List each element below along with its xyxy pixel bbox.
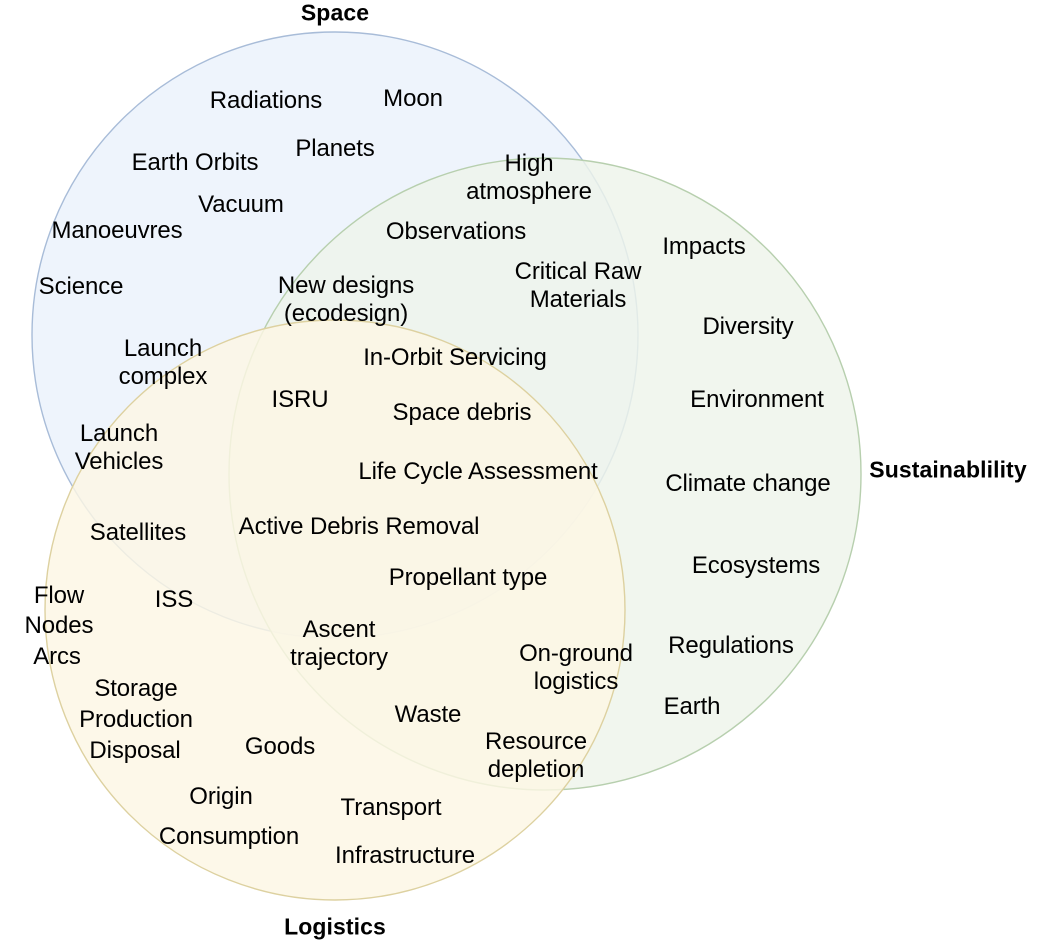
venn-term: LaunchVehicles <box>75 420 164 476</box>
venn-term: Resourcedepletion <box>485 728 587 784</box>
venn-term: Diversity <box>702 313 793 341</box>
venn-term: Life Cycle Assessment <box>358 458 597 486</box>
venn-term: In-Orbit Servicing <box>363 344 547 372</box>
venn-term: Regulations <box>668 632 794 660</box>
venn-term: Impacts <box>662 233 745 261</box>
venn-set-label-space: Space <box>301 0 369 27</box>
venn-term: Science <box>39 273 124 301</box>
venn-term: ISS <box>155 586 193 614</box>
venn-term: Origin <box>189 783 252 811</box>
venn-term: Ecosystems <box>692 552 820 580</box>
venn-term: Highatmosphere <box>466 150 592 206</box>
venn-term: New designs(ecodesign) <box>278 272 414 328</box>
venn-term: Critical RawMaterials <box>515 258 642 314</box>
venn-term: ISRU <box>272 386 329 414</box>
venn-term: Moon <box>383 85 443 113</box>
venn-term: Waste <box>395 701 462 729</box>
venn-term: Planets <box>295 135 374 163</box>
venn-term: On-groundlogistics <box>519 640 633 696</box>
venn-term: Launchcomplex <box>119 335 208 391</box>
venn-term: Infrastructure <box>335 842 475 870</box>
venn-term: Nodes <box>25 612 94 640</box>
venn-term: Arcs <box>33 643 81 671</box>
venn-term: Space debris <box>393 399 532 427</box>
venn-term: Earth Orbits <box>132 149 259 177</box>
venn-term: Climate change <box>665 470 830 498</box>
venn-term: Active Debris Removal <box>239 513 480 541</box>
venn-term: Earth <box>664 693 721 721</box>
venn-term: Storage <box>94 675 177 703</box>
venn-term: Propellant type <box>389 564 548 592</box>
venn-set-label-logistics: Logistics <box>284 914 386 941</box>
venn-term: Vacuum <box>198 191 284 219</box>
venn-term: Goods <box>245 733 315 761</box>
venn-term: Disposal <box>89 737 180 765</box>
venn-term: Transport <box>341 794 442 822</box>
venn-term: Observations <box>386 218 526 246</box>
venn-term: Radiations <box>210 87 322 115</box>
venn-diagram-canvas: RadiationsMoonEarth OrbitsPlanetsVacuumM… <box>0 0 1037 942</box>
venn-term: Manoeuvres <box>51 217 182 245</box>
venn-term: Consumption <box>159 823 299 851</box>
venn-term: Ascenttrajectory <box>290 616 388 672</box>
venn-circle-logistics <box>45 320 625 900</box>
venn-set-label-sustainability: Sustainablility <box>869 457 1026 484</box>
venn-term: Satellites <box>90 519 186 547</box>
venn-term: Production <box>79 706 193 734</box>
venn-term: Environment <box>690 386 824 414</box>
venn-term: Flow <box>34 582 84 610</box>
